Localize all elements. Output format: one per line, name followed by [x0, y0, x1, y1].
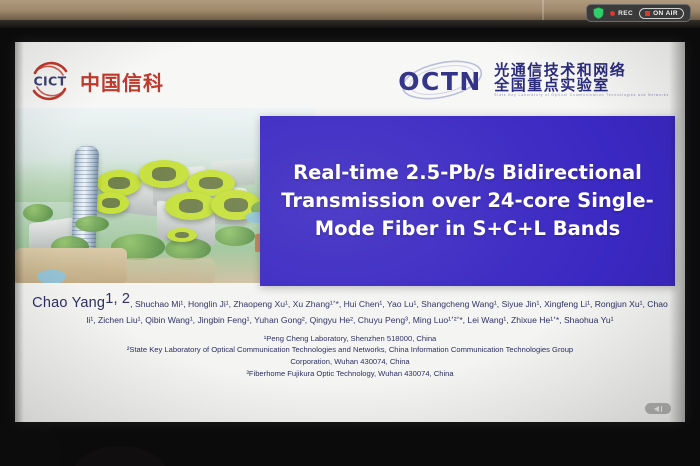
shield-icon: [593, 7, 604, 19]
affiliations: ¹Peng Cheng Laboratory, Shenzhen 518000,…: [15, 333, 685, 380]
lead-author: Chao Yang: [32, 295, 105, 311]
octn-mark-icon: OCTN: [398, 59, 486, 101]
wall-seam: [542, 0, 544, 20]
svg-text:CICT: CICT: [33, 74, 66, 89]
rec-indicator: REC: [610, 10, 633, 17]
coauthor-list: , Shuchao Mi¹, Honglin Ji¹, Zhaopeng Xu¹…: [87, 299, 668, 325]
record-dot-icon: [610, 11, 615, 16]
author-list: Chao Yang1, 2, Shuchao Mi¹, Honglin Ji¹,…: [15, 288, 685, 328]
lead-author-affil-marker: 1, 2: [105, 291, 130, 307]
on-air-square-icon: [645, 11, 650, 16]
recording-status-bar: REC ON AIR: [586, 4, 691, 22]
affiliation-item: ³Fiberhome Fujikura Optic Technology, Wu…: [27, 368, 673, 380]
slide-title-panel: Real-time 2.5-Pb/s Bidirectional Transmi…: [260, 116, 675, 286]
screenshot-root: CICT 中国信科 OCTN 光通信技术和网络 全国重点实验室 State Ke…: [0, 0, 700, 466]
affiliation-item: Corporation, Wuhan 430074, China: [27, 356, 673, 368]
on-air-badge: ON AIR: [639, 8, 684, 19]
play-triangle-icon: [654, 406, 659, 412]
next-slide-button[interactable]: [645, 403, 671, 414]
on-air-label: ON AIR: [653, 10, 678, 17]
slide-header: CICT 中国信科 OCTN 光通信技术和网络 全国重点实验室 State Ke…: [15, 42, 685, 108]
affiliation-item: ²State Key Laboratory of Optical Communi…: [27, 344, 673, 356]
page-title: Real-time 2.5-Pb/s Bidirectional Transmi…: [260, 159, 675, 244]
rec-label: REC: [618, 10, 633, 17]
octn-logo: OCTN 光通信技术和网络 全国重点实验室 State Key Laborato…: [398, 59, 669, 101]
next-bar-icon: [661, 406, 663, 412]
cict-chinese-name: 中国信科: [80, 67, 164, 96]
affiliation-item: ¹Peng Cheng Laboratory, Shenzhen 518000,…: [27, 333, 673, 345]
cict-mark-icon: CICT: [29, 60, 71, 102]
octn-wordmark: OCTN: [398, 67, 482, 96]
cict-logo: CICT 中国信科: [29, 60, 164, 102]
authors-block: Chao Yang1, 2, Shuchao Mi¹, Honglin Ji¹,…: [15, 288, 685, 380]
octn-chinese-name: 光通信技术和网络 全国重点实验室 State Key Laboratory of…: [494, 63, 669, 98]
presentation-slide[interactable]: CICT 中国信科 OCTN 光通信技术和网络 全国重点实验室 State Ke…: [15, 42, 685, 422]
